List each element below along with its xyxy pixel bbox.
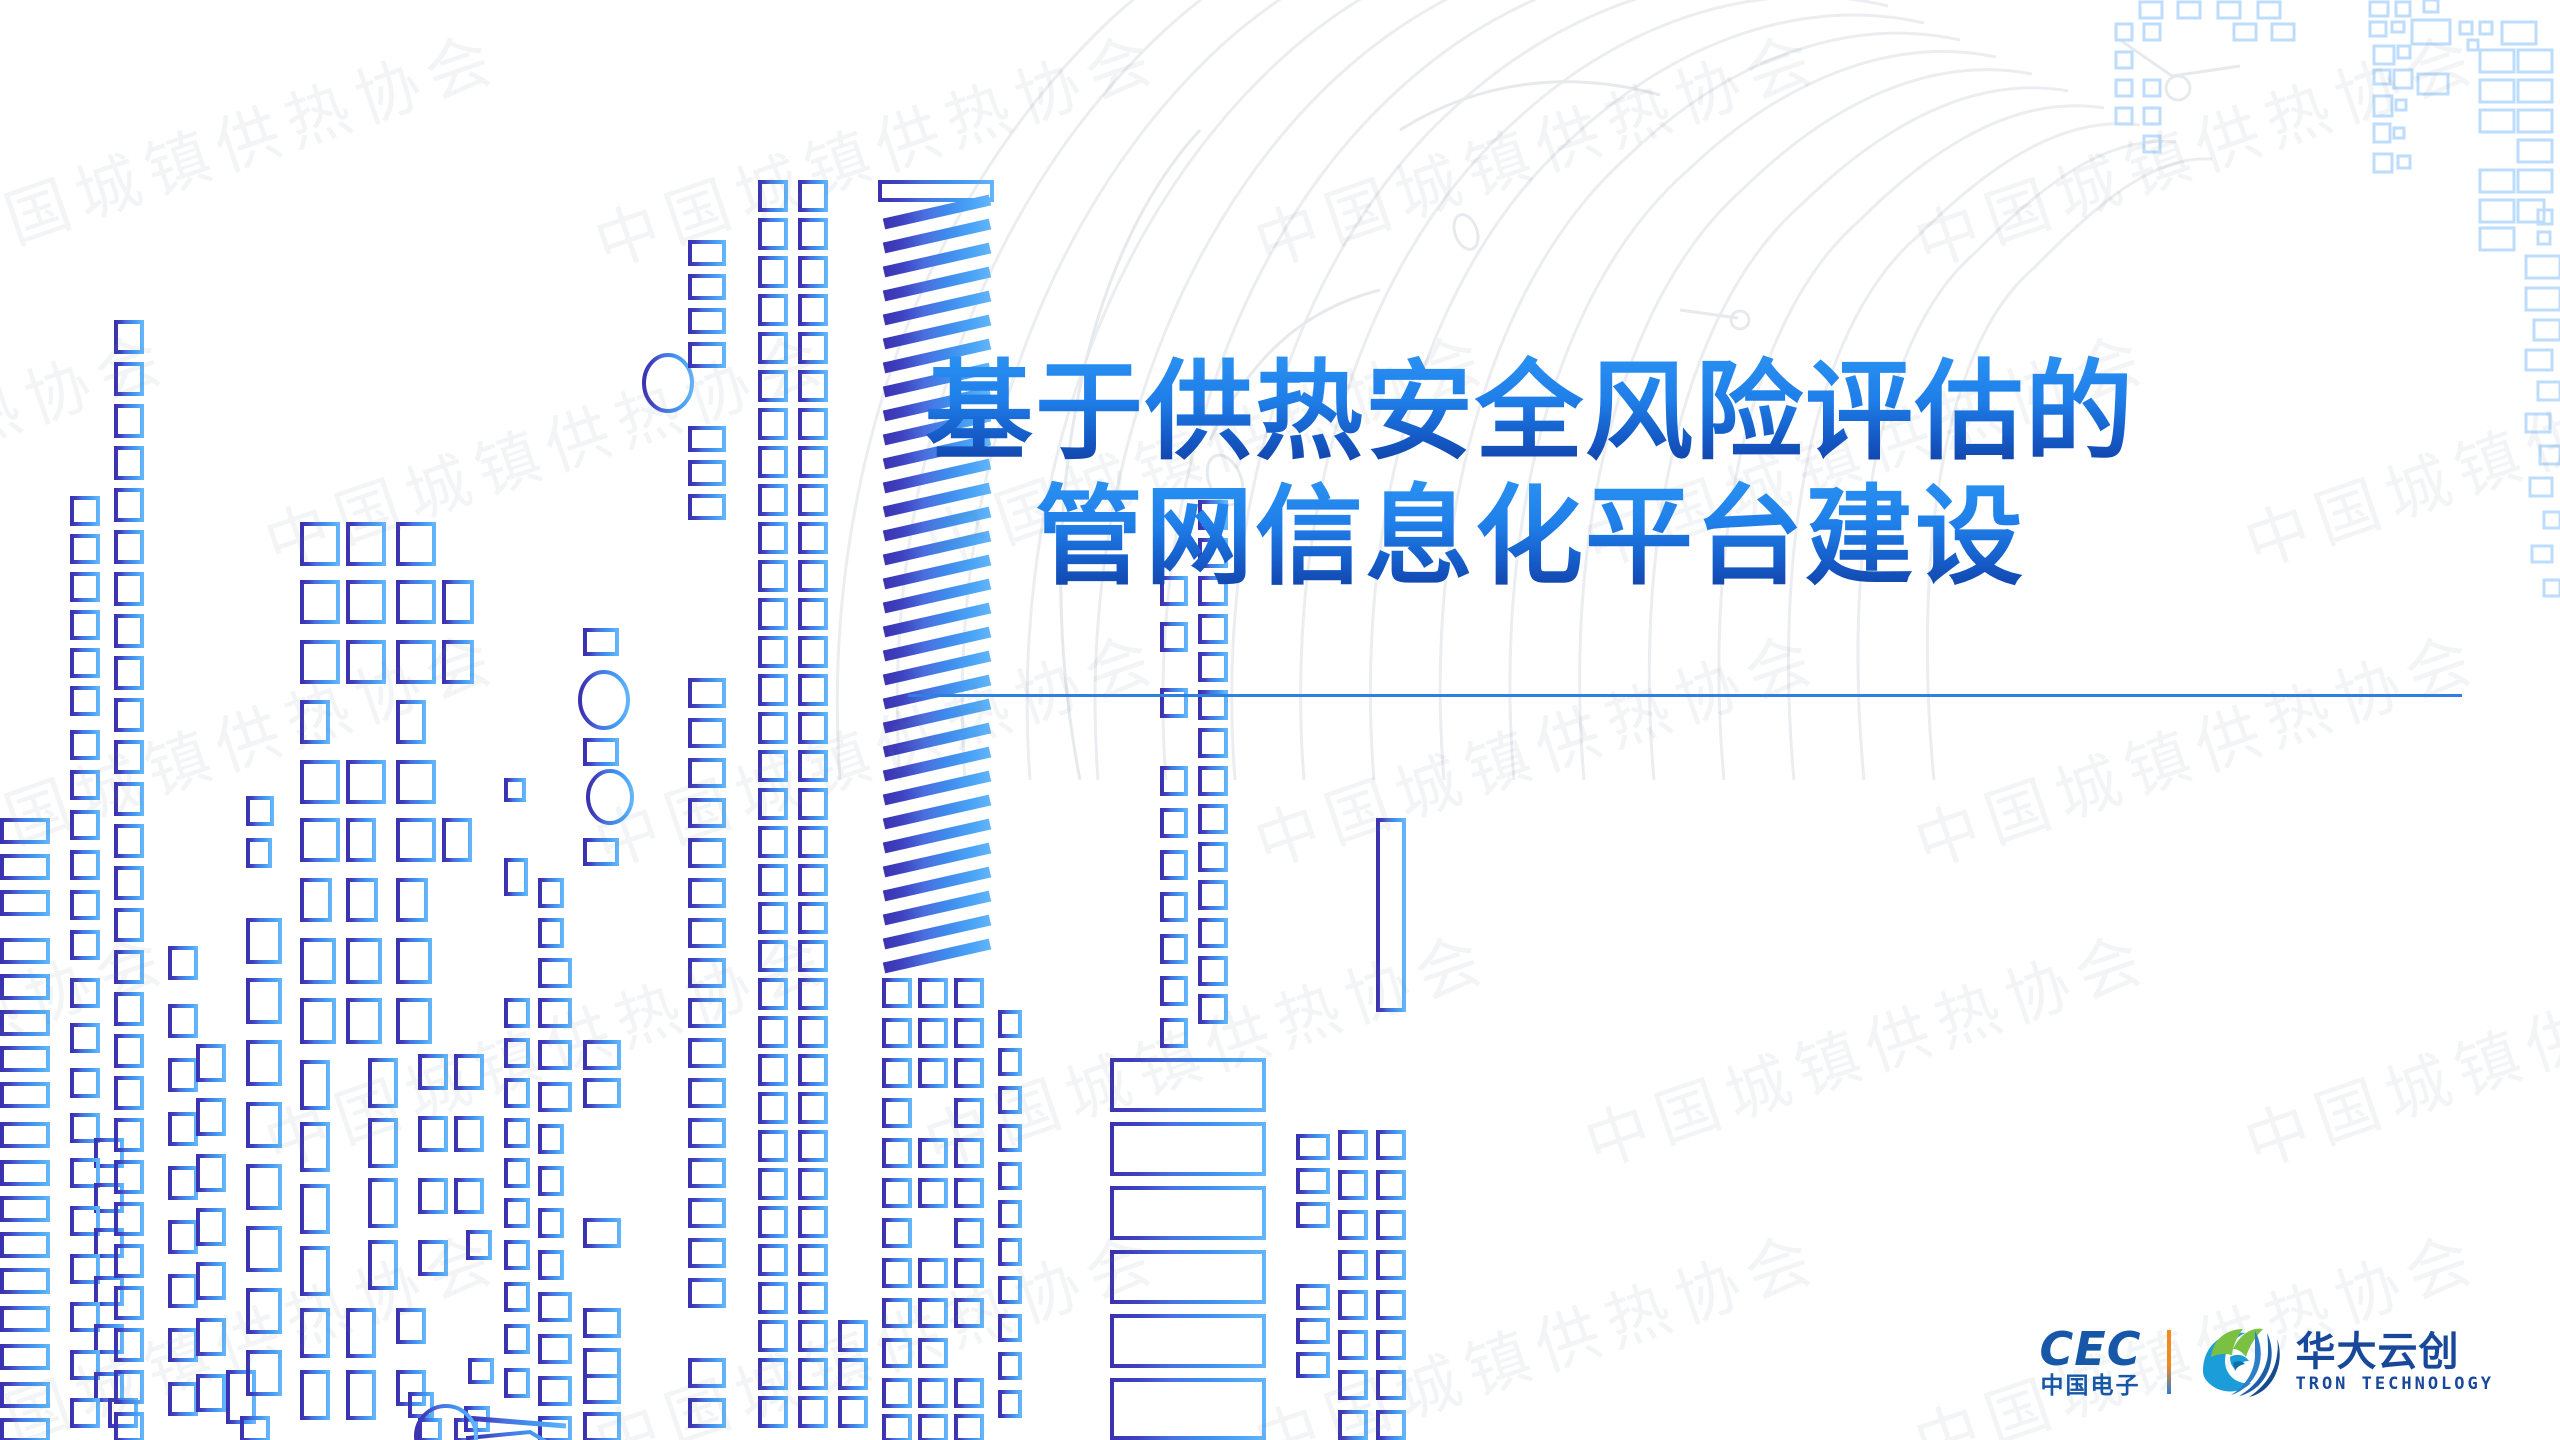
slide-root: 中国城镇供热协会 中国城镇供热协会 中国城镇供热协会 中国城镇供热协会 中国城镇… xyxy=(0,0,2560,1440)
title-line-2: 管网信息化平台建设 xyxy=(560,475,2500,600)
watermark-text: 中国城镇供热协会 xyxy=(1571,906,2161,1186)
tron-logo: 华大云创 TRON TECHNOLOGY xyxy=(2197,1327,2494,1397)
title-underline-rule xyxy=(908,694,2462,697)
slide-title: 基于供热安全风险评估的 管网信息化平台建设 xyxy=(560,350,2500,601)
logo-separator-divider xyxy=(2167,1330,2171,1394)
tron-text-block: 华大云创 TRON TECHNOLOGY xyxy=(2295,1332,2494,1393)
watermark-text: 中国城镇供热协会 xyxy=(1901,1206,2491,1440)
cec-logo: CEC 中国电子 xyxy=(2040,1326,2142,1398)
tron-chinese-name: 华大云创 xyxy=(2295,1332,2494,1372)
cec-wordmark: CEC xyxy=(2040,1326,2142,1372)
title-line-1: 基于供热安全风险评估的 xyxy=(560,350,2500,475)
tron-swoosh-leaf-icon xyxy=(2197,1327,2283,1397)
cec-chinese-name: 中国电子 xyxy=(2040,1375,2140,1398)
watermark-text: 中国城镇供热协会 xyxy=(2231,906,2560,1186)
logo-lockup: CEC 中国电子 华大云创 TRON TECHNOLOGY xyxy=(2040,1326,2494,1398)
tron-english-name: TRON TECHNOLOGY xyxy=(2295,1376,2494,1393)
